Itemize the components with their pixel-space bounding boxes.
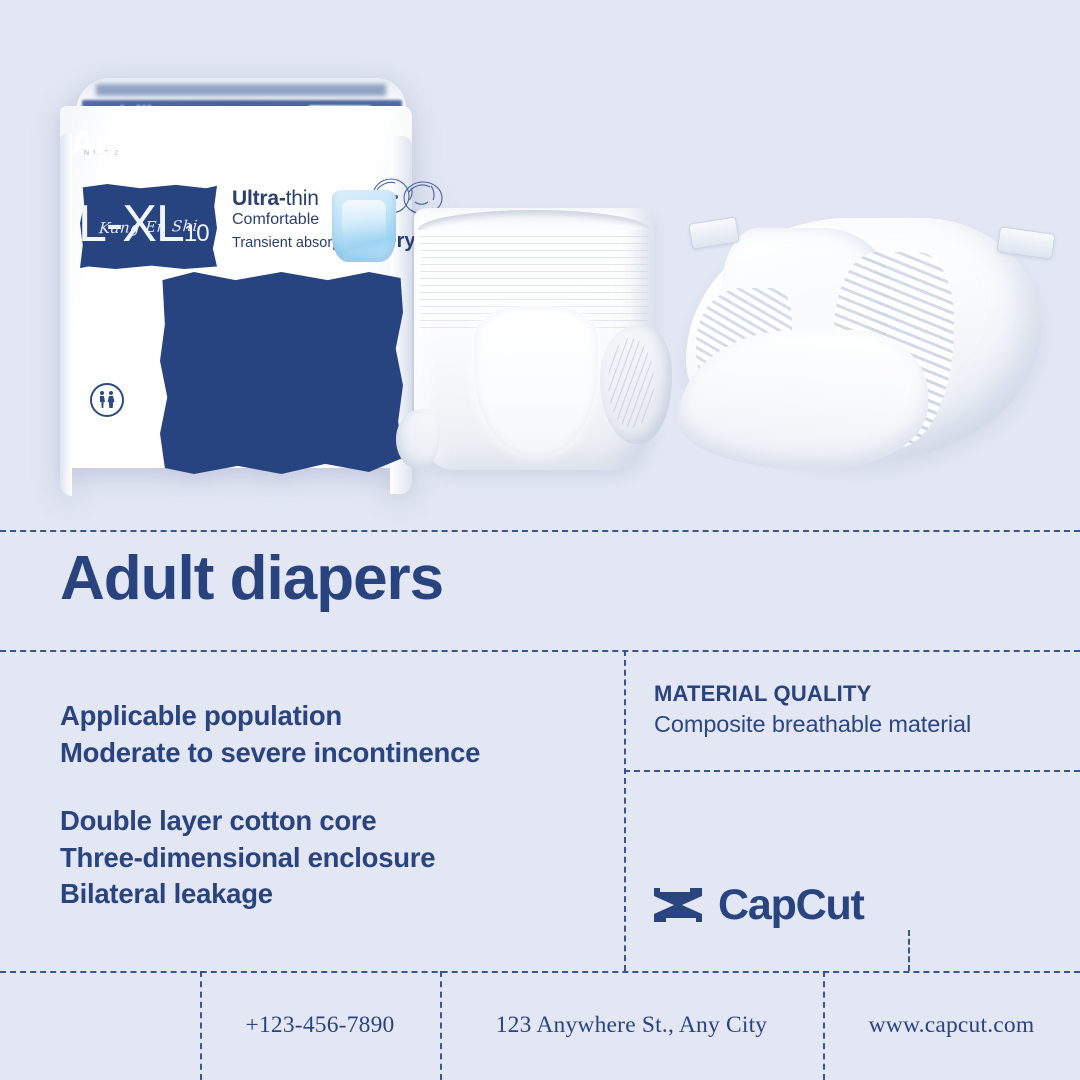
pullup-leg-opening-left [396,409,440,469]
package-count-value: 10 [184,220,209,247]
package-left-gloss [60,134,72,496]
package-claim-ultra: Ultra- [232,187,286,210]
package-claim-thin: thin [286,187,319,210]
package-product-title: Adult diapers [60,122,303,164]
package-size-value: L-XL [78,195,184,253]
capcut-logo-icon [652,882,704,928]
unisex-icon [90,383,124,417]
footer-phone[interactable]: +123-456-7890 [200,971,440,1080]
package-top-blur-band [96,84,386,96]
product-info-list: Applicable population Moderate to severe… [60,698,600,913]
package-mini-product-photo [332,190,396,262]
material-quality-label: MATERIAL QUALITY [654,680,1054,709]
capcut-brand-logo[interactable]: CapCut [652,882,864,928]
taped-diaper-image [672,192,1064,474]
info-applicable-population: Applicable population [60,698,600,735]
pullup-leg-opening [600,326,672,444]
material-quality-block: MATERIAL QUALITY Composite breathable ma… [654,680,1054,740]
product-package-image: L-XL NO.0092 Kang En Shi Ultra-thin Comf… [60,78,412,468]
divider-material-bottom [624,770,1080,772]
unisex-glyph [96,389,118,411]
page-title: Adult diapers [60,548,443,610]
footer-address[interactable]: 123 Anywhere St., Any City [440,971,823,1080]
taped-shell [686,218,1042,464]
package-title-block [160,272,403,474]
footer-website[interactable]: www.capcut.com [823,971,1080,1080]
divider-logo-right [908,930,910,971]
package-size-label: L-XL10 [78,194,209,254]
pullup-diaper-image [404,208,666,483]
poster-canvas: L-XL NO.0092 Kang En Shi Ultra-thin Comf… [0,0,1080,1080]
divider-hero-bottom [0,530,1080,532]
hero-product-area: L-XL NO.0092 Kang En Shi Ultra-thin Comf… [0,0,1080,530]
package-front-face: NO.0092 Kang En Shi Ultra-thin Comfortab… [60,106,412,468]
info-spacer [60,771,600,803]
divider-title-bottom [0,650,1080,652]
info-cotton-core: Double layer cotton core [60,803,600,840]
divider-info-columns [624,650,626,971]
footer-contact-bar: +123-456-7890 123 Anywhere St., Any City… [0,971,1080,1080]
info-leakage: Bilateral leakage [60,876,600,913]
material-quality-value: Composite breathable material [654,709,1054,740]
info-enclosure: Three-dimensional enclosure [60,840,600,877]
capcut-wordmark: CapCut [718,884,864,927]
info-incontinence-level: Moderate to severe incontinence [60,735,600,772]
